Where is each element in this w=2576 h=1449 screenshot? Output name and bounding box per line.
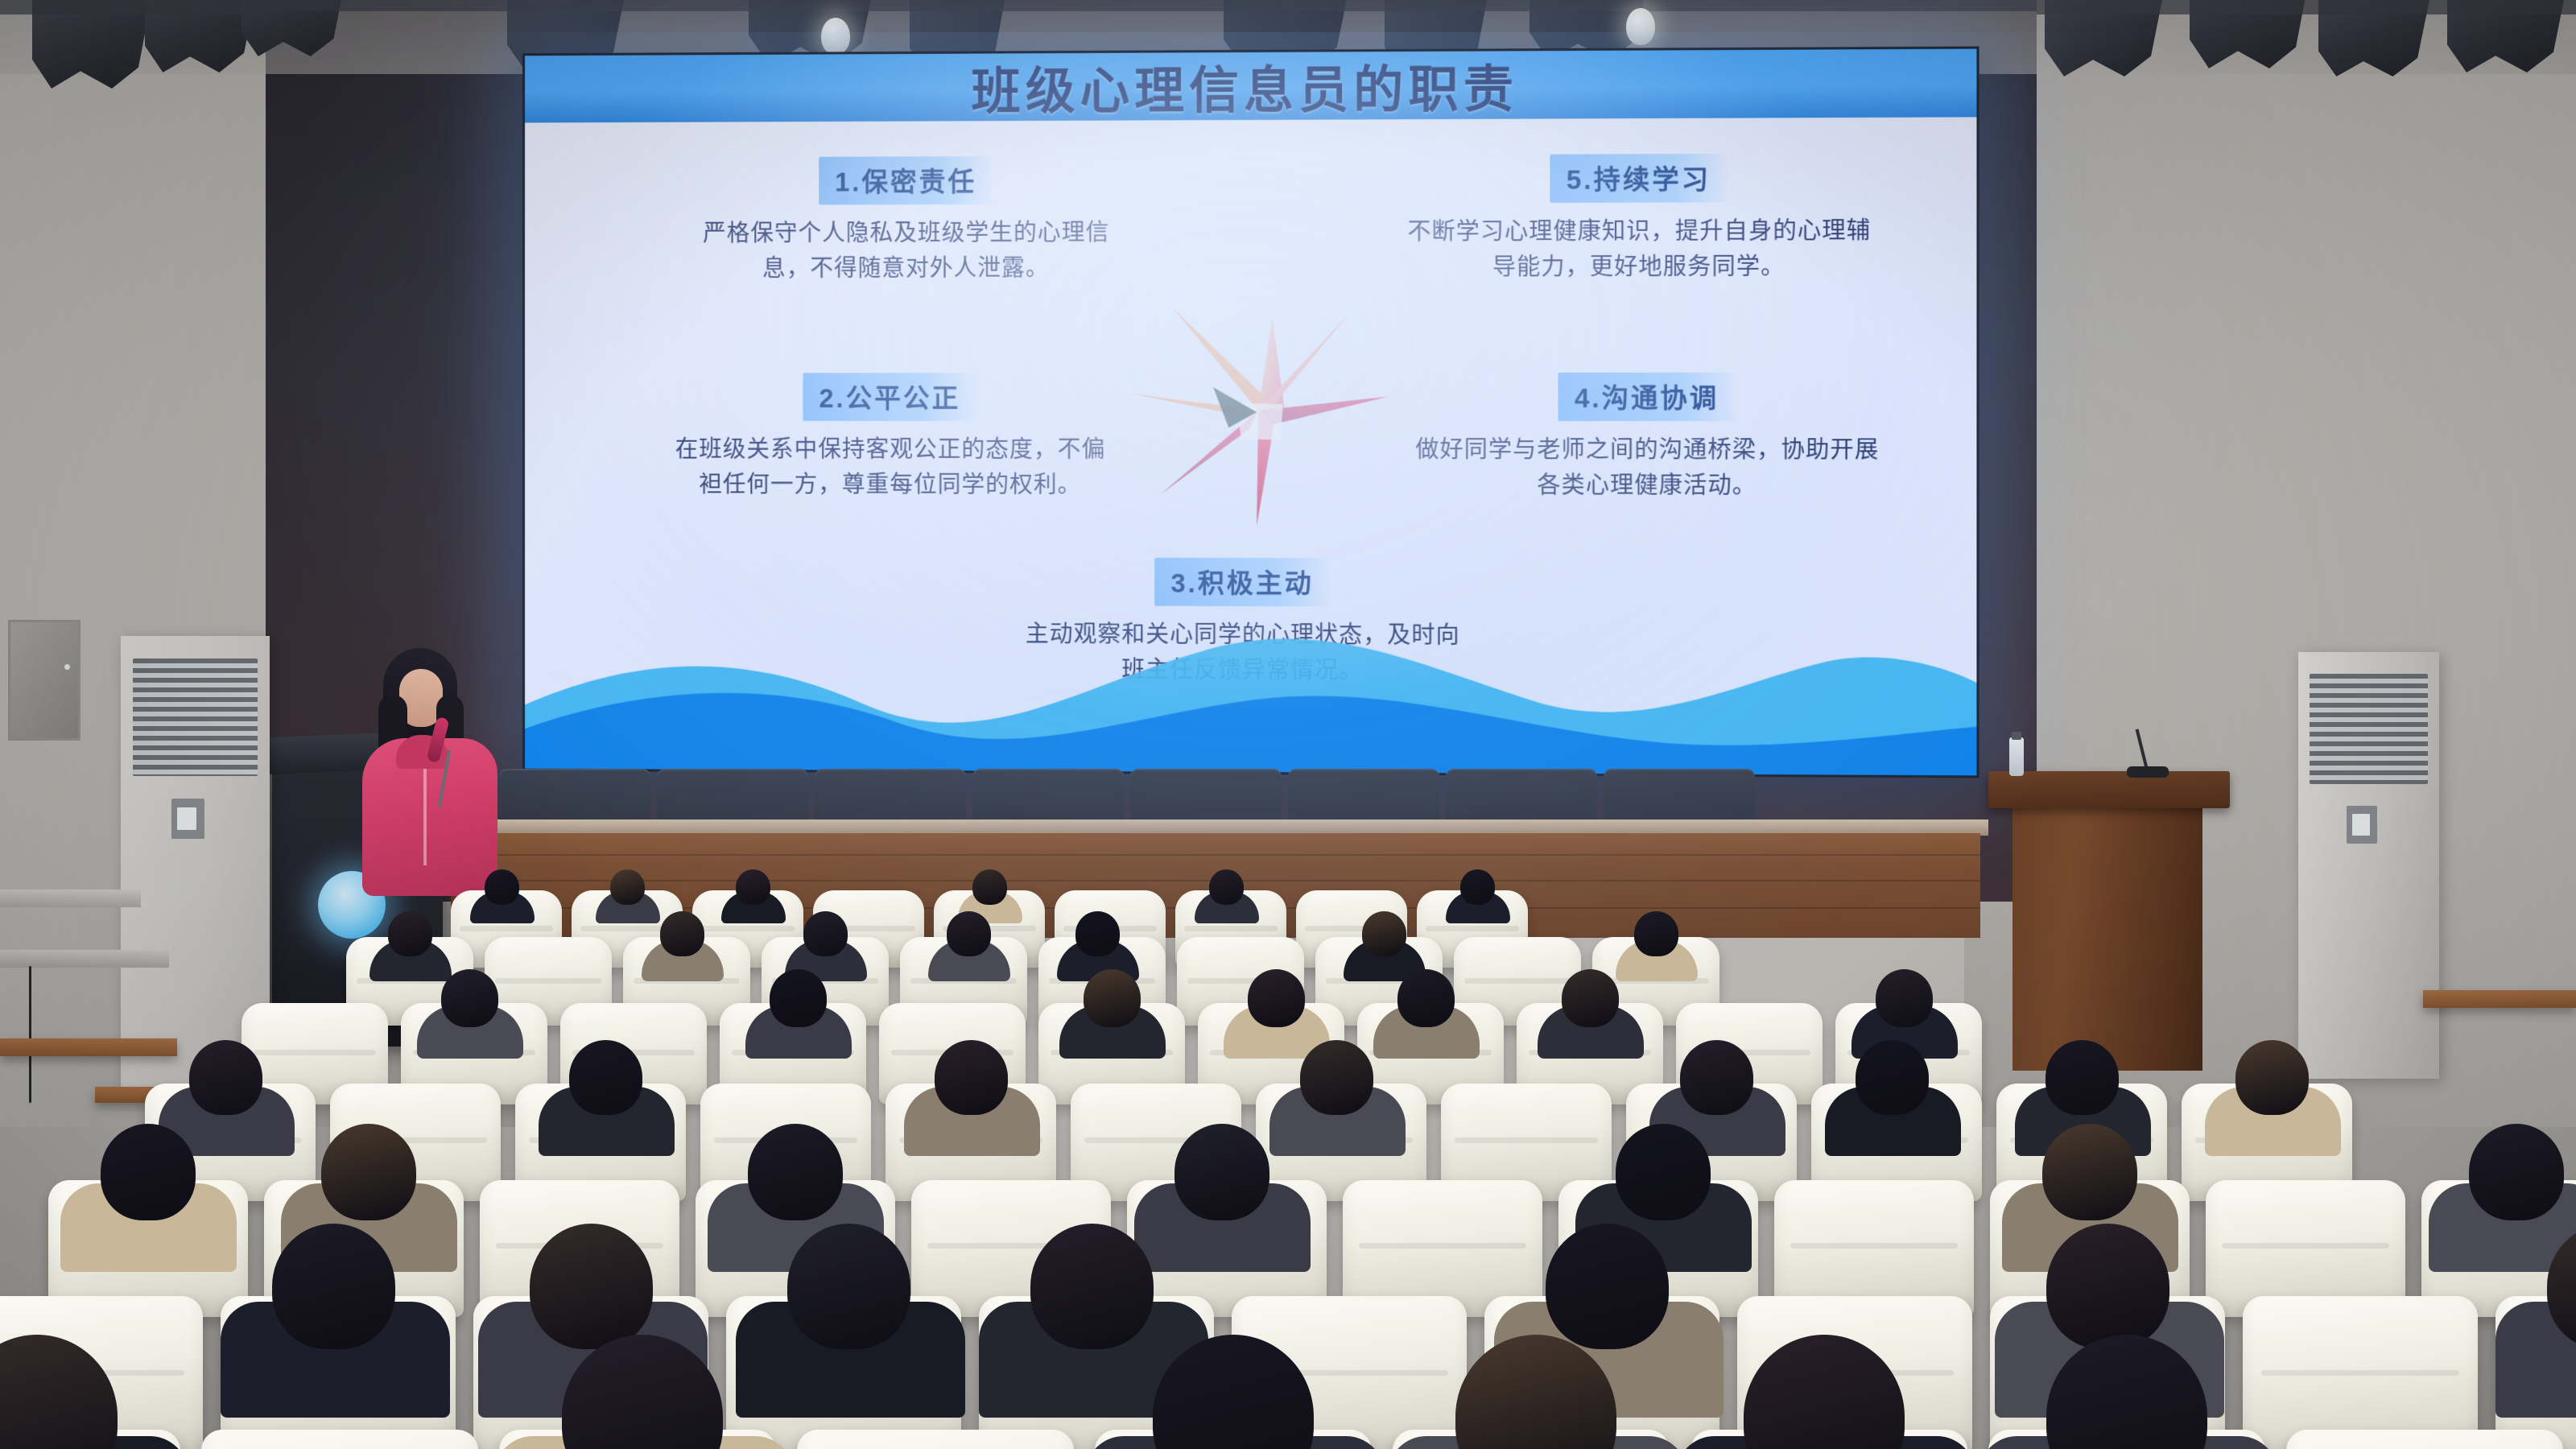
audience-person-head <box>787 1224 910 1349</box>
water-bottle-icon <box>2009 737 2024 776</box>
star-burst-icon <box>1115 294 1405 528</box>
audience-person-head <box>770 969 827 1027</box>
audience-person-head <box>1546 1224 1669 1349</box>
audience-chair <box>201 1430 478 1449</box>
audience-person-head <box>803 911 848 956</box>
audience-person-head <box>660 911 704 956</box>
audience-person-head <box>1680 1040 1753 1115</box>
bottle-cap <box>2012 732 2021 740</box>
audience-person-head <box>1634 911 1678 956</box>
slide-item-1-body: 严格保守个人隐私及班级学生的心理信息，不得随意对外人泄露。 <box>683 215 1130 287</box>
ac-led-indicator <box>177 807 196 830</box>
wall-electrical-box <box>8 620 80 741</box>
audience-person-head <box>1174 1124 1269 1220</box>
audience-person-head <box>1075 911 1120 956</box>
slide-title: 班级心理信息员的职责 <box>525 47 1976 128</box>
audience-person-head <box>1362 911 1406 956</box>
slide-wave-decoration <box>525 609 1976 776</box>
slide-item-1: 1.保密责任 严格保守个人隐私及班级学生的心理信息，不得随意对外人泄露。 <box>683 155 1130 287</box>
audience-person-head <box>569 1040 642 1115</box>
wooden-lectern-top <box>1988 771 2230 808</box>
slide-item-4-tag: 4.沟通协调 <box>1558 373 1736 421</box>
audience-person-head <box>2469 1124 2564 1220</box>
audience-person-head <box>947 911 991 956</box>
microphone-base <box>2127 766 2169 778</box>
slide-item-2: 2.公平公正 在班级关系中保持客观公正的态度，不偏袒任何一方，尊重每位同学的权利… <box>667 373 1114 503</box>
audience-person-head <box>189 1040 262 1115</box>
audience-person-head <box>485 869 519 905</box>
audience-person-head <box>2046 1224 2169 1349</box>
audience-person-head <box>1209 869 1244 905</box>
audience-person-head <box>935 1040 1008 1115</box>
audience-person-head <box>1616 1124 1711 1220</box>
audience-person-head <box>1876 969 1933 1027</box>
audience-chair <box>797 1430 1074 1449</box>
speaker-person <box>354 648 499 890</box>
slide-item-5-body: 不断学习心理健康知识，提升自身的心理辅导能力，更好地服务同学。 <box>1403 213 1875 286</box>
audience-person-head <box>321 1124 416 1220</box>
audience-person-head <box>972 869 1007 905</box>
lighting-truss <box>0 0 266 14</box>
audience-chair <box>2286 1430 2563 1449</box>
slide-item-4-body: 做好同学与老师之间的沟通桥梁，协助开展各类心理健康活动。 <box>1411 432 1883 504</box>
speaker-jacket-zipper <box>423 769 427 865</box>
lighting-truss <box>2037 0 2576 14</box>
audience-person-head <box>272 1224 395 1349</box>
auditorium-scene: 班级心理信息员的职责 <box>0 0 2576 1449</box>
audience-person-head <box>530 1224 653 1349</box>
audience-person-head <box>1248 969 1305 1027</box>
audience-person-head <box>1030 1224 1154 1349</box>
audience-person-head <box>441 969 498 1027</box>
audience-person-head <box>2046 1040 2119 1115</box>
audience-person-head <box>1084 969 1141 1027</box>
panel-screw <box>64 664 70 670</box>
light-bulb-icon <box>821 18 850 55</box>
projection-screen: 班级心理信息员的职责 <box>522 47 1979 778</box>
ac-vent-grille <box>133 658 258 776</box>
plank-line <box>451 854 1980 856</box>
ac-vent-grille <box>2310 674 2428 785</box>
light-bulb-icon <box>1626 8 1655 45</box>
slide-item-5: 5.持续学习 不断学习心理健康知识，提升自身的心理辅导能力，更好地服务同学。 <box>1403 153 1875 286</box>
audience-person-head <box>2042 1124 2137 1220</box>
slide-item-4: 4.沟通协调 做好同学与老师之间的沟通桥梁，协助开展各类心理健康活动。 <box>1411 373 1883 505</box>
audience-person-head <box>1460 869 1495 905</box>
ac-led-indicator <box>2352 814 2371 836</box>
audience-person-head <box>1397 969 1455 1027</box>
slide-item-2-body: 在班级关系中保持客观公正的态度，不偏袒任何一方，尊重每位同学的权利。 <box>667 432 1114 503</box>
lighting-truss <box>266 0 2037 11</box>
slide-item-3-tag: 3.积极主动 <box>1154 558 1329 606</box>
audience-person-head <box>748 1124 843 1220</box>
audience-chair <box>2243 1296 2478 1449</box>
audience-person-head <box>736 869 770 905</box>
audience-person-head <box>1562 969 1619 1027</box>
audience-person-head <box>1300 1040 1373 1115</box>
audience-person-head <box>388 911 432 956</box>
audience-person-head <box>101 1124 196 1220</box>
audience-person-head <box>1856 1040 1929 1115</box>
slide-item-2-tag: 2.公平公正 <box>803 373 976 421</box>
audience-person-head <box>610 869 645 905</box>
slide-item-5-tag: 5.持续学习 <box>1550 154 1728 203</box>
audience-seating <box>0 894 2576 1449</box>
audience-person-head <box>2235 1040 2309 1115</box>
slide-item-1-tag: 1.保密责任 <box>819 156 992 204</box>
